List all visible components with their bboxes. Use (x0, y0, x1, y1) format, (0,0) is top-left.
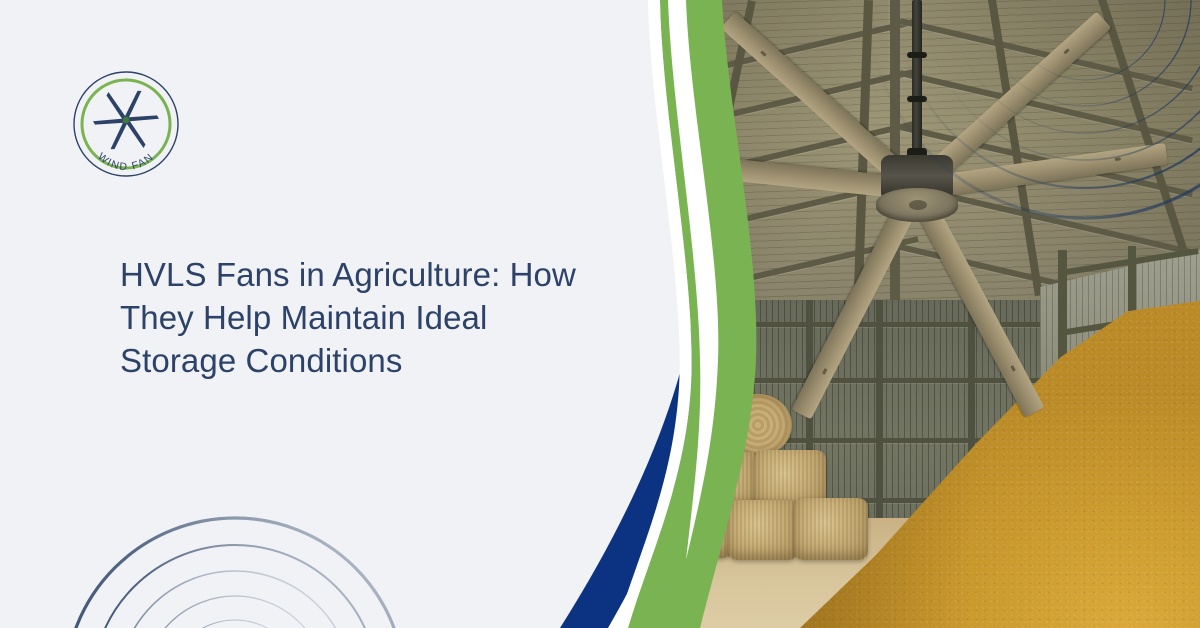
title-line-1: HVLS Fans in Agriculture: How (120, 253, 600, 296)
title-line-2: They Help Maintain Ideal (120, 296, 600, 339)
decor-arc (925, 0, 1200, 160)
decor-arc (167, 620, 303, 628)
wind-fan-logo[interactable]: WIND FAN (72, 70, 180, 178)
decor-arc (92, 545, 378, 628)
decor-arc (65, 518, 405, 628)
decor-arc (897, 0, 1200, 188)
decor-arcs-bottom-left (60, 448, 420, 628)
page-title: HVLS Fans in Agriculture: How They Help … (120, 253, 600, 382)
logo-brand-text: WIND FAN (95, 151, 156, 174)
decor-arc (867, 0, 1200, 218)
decor-arcs-top-right (790, 0, 1200, 260)
title-line-3: Storage Conditions (120, 339, 600, 382)
decor-arc (979, 0, 1191, 106)
logo-hub (123, 117, 130, 124)
banner-root: WIND FAN HVLS Fans in Agriculture: How T… (0, 0, 1200, 628)
decor-arc (1005, 0, 1165, 80)
decor-arc (143, 596, 327, 628)
